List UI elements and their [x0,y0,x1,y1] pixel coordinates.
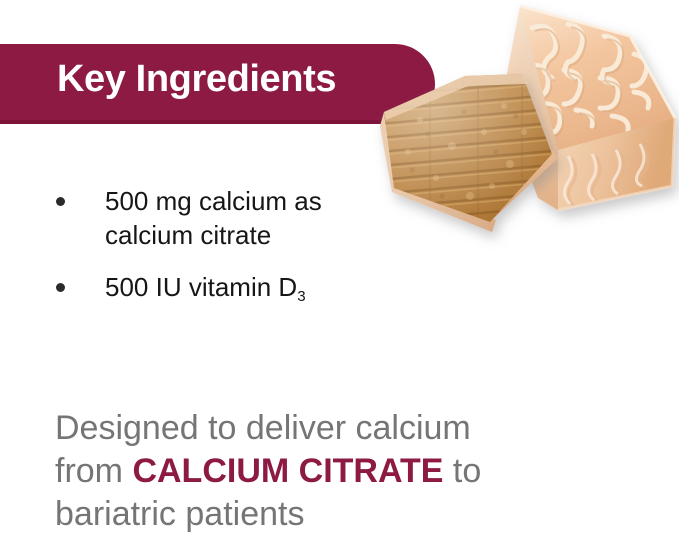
tagline-line-2-prefix: from [55,452,132,490]
tagline-accent: CALCIUM CITRATE [132,452,443,490]
tagline-line-1: Designed to deliver calcium [55,407,625,450]
key-ingredients-list: 500 mg calcium as calcium citrate 500 IU… [52,184,382,327]
banner-underline [0,120,412,124]
tagline-line-2-suffix: to [443,452,481,490]
bullet-dot-icon [56,283,65,292]
list-item-label: 500 IU vitamin D3 [105,270,382,309]
list-item: 500 IU vitamin D3 [52,270,382,309]
product-feature-card: Key Ingredients [0,0,679,538]
bullet-dot-icon [56,197,65,206]
tagline-line-3: bariatric patients [55,493,625,536]
tagline: Designed to deliver calcium from CALCIUM… [55,407,625,536]
tagline-line-2: from CALCIUM CITRATE to [55,450,625,493]
page-title: Key Ingredients [57,59,336,101]
chewable-calcium-squares-photo [372,0,679,262]
ingredient-line-1: 500 mg calcium as [105,186,322,216]
list-item-label: 500 mg calcium as calcium citrate [105,184,382,252]
ingredient-vitamin-d-text: 500 IU vitamin D [105,272,297,302]
ingredient-line-2: calcium citrate [105,220,271,250]
ingredient-vitamin-d-subscript: 3 [297,288,305,305]
list-item: 500 mg calcium as calcium citrate [52,184,382,252]
